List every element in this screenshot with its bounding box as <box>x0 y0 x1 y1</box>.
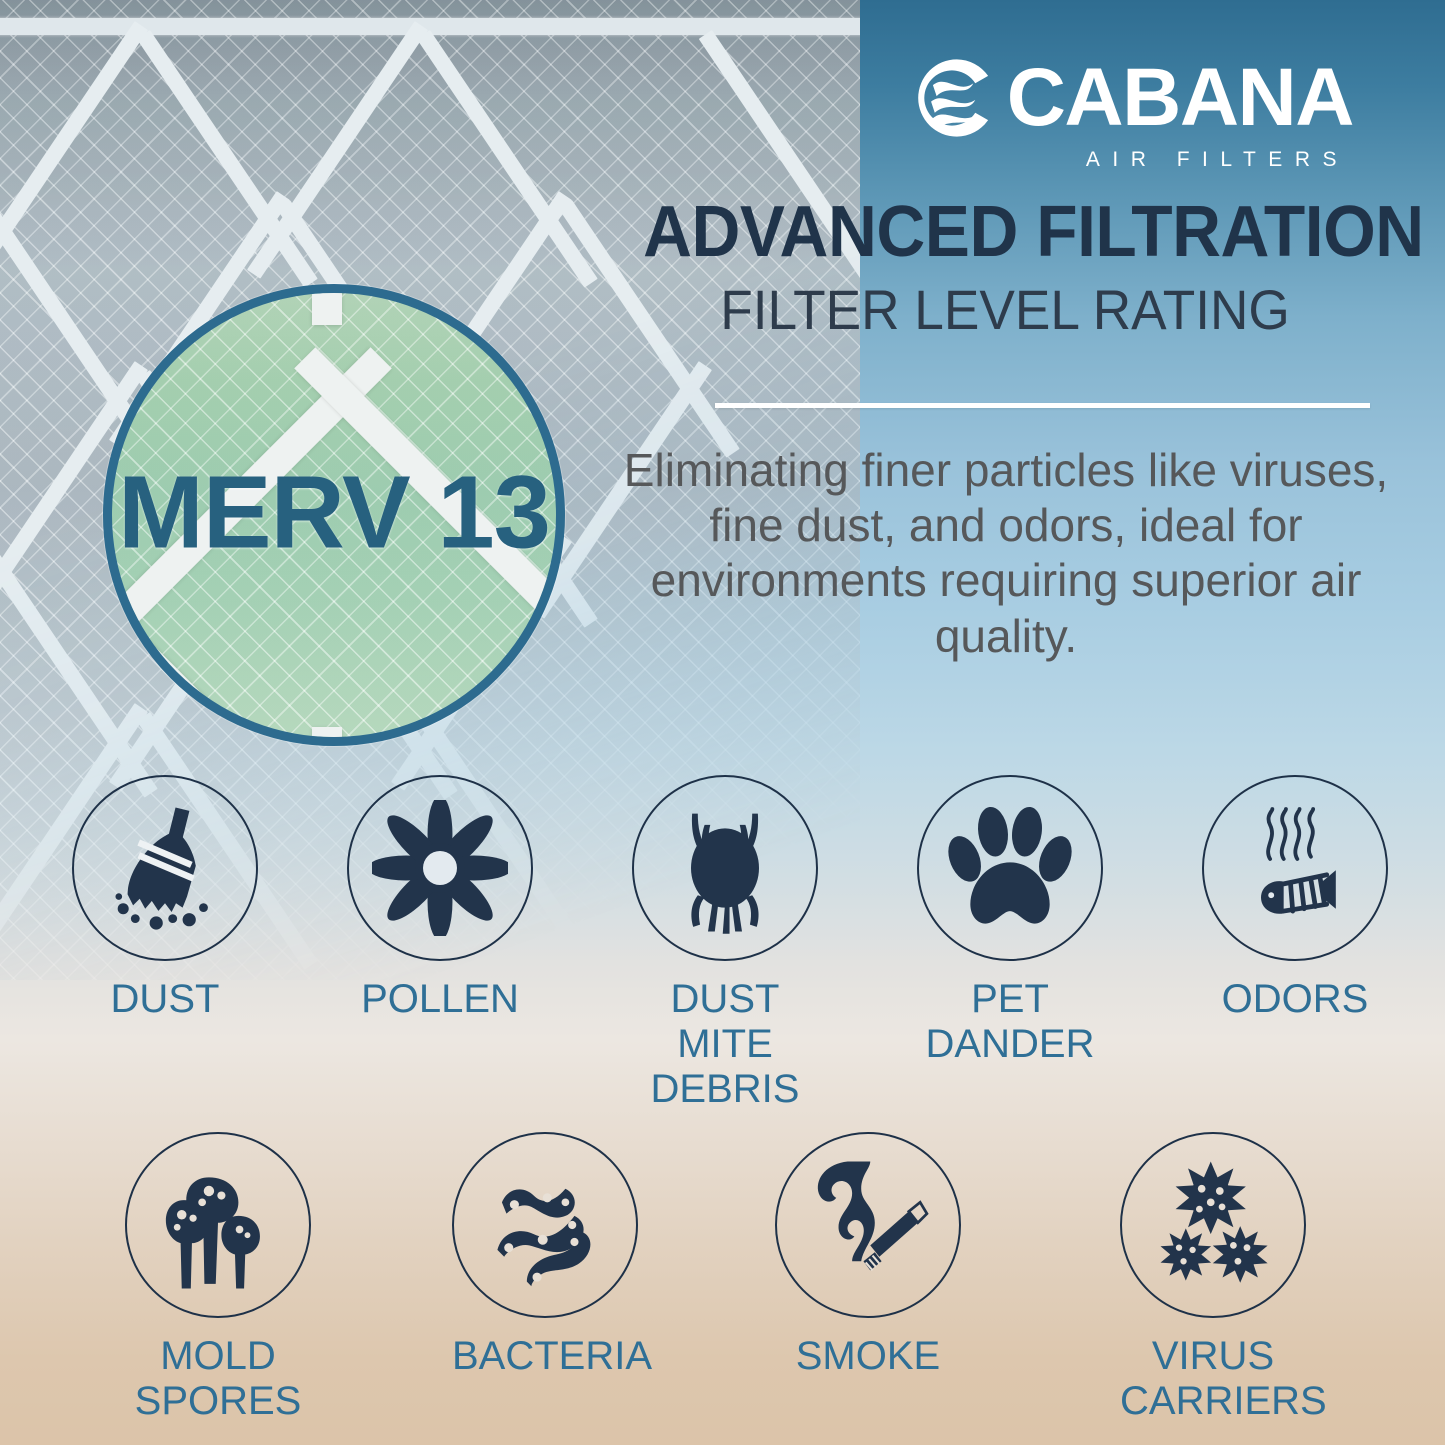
bacteria-icon <box>477 1157 613 1293</box>
icon-circle <box>72 775 258 961</box>
icon-label: POLLEN <box>347 977 533 1022</box>
icon-label: VIRUS CARRIERS <box>1120 1334 1306 1424</box>
icon-label: MOLD SPORES <box>125 1334 311 1424</box>
icon-item-pollen[interactable]: POLLEN <box>347 775 533 1022</box>
badge-pleat-bar <box>312 284 342 325</box>
merv-rating-label: MERV 13 <box>112 454 556 572</box>
paw-print-icon <box>942 800 1078 936</box>
divider-rule <box>715 403 1370 408</box>
icon-item-odors[interactable]: ODORS <box>1202 775 1388 1022</box>
icon-circle <box>452 1132 638 1318</box>
icon-circle <box>917 775 1103 961</box>
icon-label: DUST MITE DEBRIS <box>632 977 818 1111</box>
wave-c-icon <box>909 52 1001 144</box>
icon-circle <box>1120 1132 1306 1318</box>
fish-bone-odor-icon <box>1227 800 1363 936</box>
merv-rating-badge: MERV 13 <box>103 284 565 746</box>
icon-item-smoke[interactable]: SMOKE <box>775 1132 961 1379</box>
icon-label: BACTERIA <box>452 1334 638 1379</box>
icon-item-virus-carriers[interactable]: VIRUS CARRIERS <box>1120 1132 1306 1424</box>
brand-tagline: AIR FILTERS <box>1086 148 1349 172</box>
dust-mite-icon <box>657 800 793 936</box>
icon-circle <box>775 1132 961 1318</box>
mold-spore-icon <box>150 1157 286 1293</box>
icon-circle <box>632 775 818 961</box>
page-title: ADVANCED FILTRATION <box>643 196 1367 268</box>
icon-item-dust-mite[interactable]: DUST MITE DEBRIS <box>632 775 818 1111</box>
icon-circle <box>125 1132 311 1318</box>
badge-pleat-bar <box>312 727 342 746</box>
brand-name: CABANA <box>1007 60 1353 135</box>
page-subtitle: FILTER LEVEL RATING <box>639 282 1371 338</box>
icon-label: SMOKE <box>775 1334 961 1379</box>
icon-item-mold-spores[interactable]: MOLD SPORES <box>125 1132 311 1424</box>
virus-icon <box>1145 1157 1281 1293</box>
icon-circle <box>1202 775 1388 961</box>
headline-block: ADVANCED FILTRATION FILTER LEVEL RATING <box>620 196 1390 338</box>
brand-logo: CABANA AIR FILTERS <box>909 52 1353 172</box>
icon-item-pet-dander[interactable]: PET DANDER <box>917 775 1103 1067</box>
description-text: Eliminating finer particles like viruses… <box>622 443 1390 664</box>
filter-rating-poster: MERV 13 CABANA AIR FILTERS ADVANCED FILT… <box>0 0 1445 1445</box>
icon-item-bacteria[interactable]: BACTERIA <box>452 1132 638 1379</box>
logo-row: CABANA <box>909 52 1353 144</box>
icon-label: DUST <box>72 977 258 1022</box>
cigarette-smoke-icon <box>800 1157 936 1293</box>
icon-circle <box>347 775 533 961</box>
flower-icon <box>372 800 508 936</box>
icon-label: PET DANDER <box>917 977 1103 1067</box>
icon-label: ODORS <box>1202 977 1388 1022</box>
broom-dust-icon <box>99 802 231 934</box>
icon-item-dust[interactable]: DUST <box>72 775 258 1022</box>
